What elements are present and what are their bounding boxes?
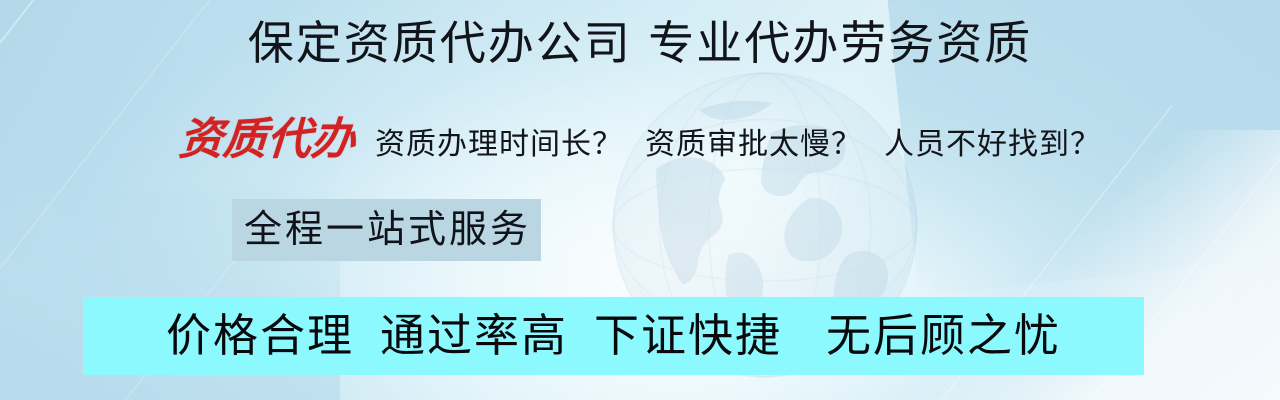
benefit-item-1: 价格合理 [166, 308, 354, 364]
question-row: 资质代办 资质办理时间长？ 资质审批太慢？ 人员不好找到？ [0, 112, 1280, 173]
service-tagline: 全程一站式服务 [232, 199, 541, 261]
benefit-item-2: 通过率高 [380, 308, 568, 364]
benefit-item-3: 下证快捷 [594, 308, 782, 364]
banner-title: 保定资质代办公司 专业代办劳务资质 [0, 12, 1280, 74]
banner-text-layer: 保定资质代办公司 专业代办劳务资质 资质代办 资质办理时间长？ 资质审批太慢？ … [0, 0, 1280, 400]
benefit-item-4: 无后顾之忧 [826, 308, 1061, 364]
question-item-1: 资质办理时间长？ [375, 117, 623, 173]
question-item-2: 资质审批太慢？ [645, 117, 862, 173]
promo-banner: 保定资质代办公司 专业代办劳务资质 资质代办 资质办理时间长？ 资质审批太慢？ … [0, 0, 1280, 400]
brush-headline: 资质代办 [177, 112, 357, 168]
benefits-bar: 价格合理 通过率高 下证快捷 无后顾之忧 [83, 297, 1144, 375]
question-item-3: 人员不好找到？ [884, 117, 1101, 173]
